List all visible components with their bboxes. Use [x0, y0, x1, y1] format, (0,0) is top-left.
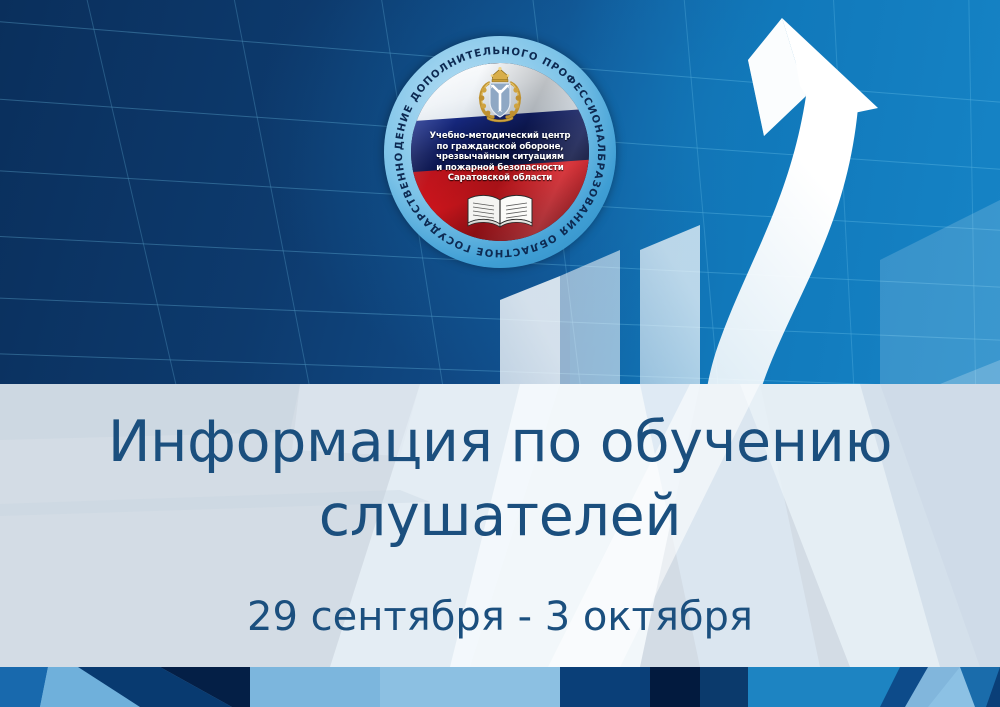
- open-book-icon: [463, 191, 537, 231]
- poster: УЧРЕЖДЕНИЕ ДОПОЛНИТЕЛЬНОГО ПРОФЕССИОНАЛЬ…: [0, 0, 1000, 707]
- emblem-center-line-4: и пожарной безопасности: [419, 163, 581, 174]
- organization-emblem: УЧРЕЖДЕНИЕ ДОПОЛНИТЕЛЬНОГО ПРОФЕССИОНАЛЬ…: [384, 24, 616, 280]
- emblem-center-line-2: по гражданской обороне,: [419, 142, 581, 153]
- saratov-coat-of-arms-icon: [473, 67, 527, 123]
- emblem-center-text: Учебно-методический центр по гражданской…: [419, 131, 581, 184]
- emblem-center-line-1: Учебно-методический центр: [419, 131, 581, 142]
- emblem-center-line-3: чрезвычайным ситуациям: [419, 152, 581, 163]
- bottom-accent-band: [0, 667, 1000, 707]
- emblem-center-line-5: Саратовской области: [419, 173, 581, 184]
- date-range-subtitle: 29 сентября - 3 октября: [0, 592, 1000, 642]
- page-title: Информация по обучению слушателей: [0, 405, 1000, 553]
- bottom-band-facets: [0, 667, 1000, 707]
- emblem-inner-disc: Учебно-методический центр по гражданской…: [411, 63, 589, 241]
